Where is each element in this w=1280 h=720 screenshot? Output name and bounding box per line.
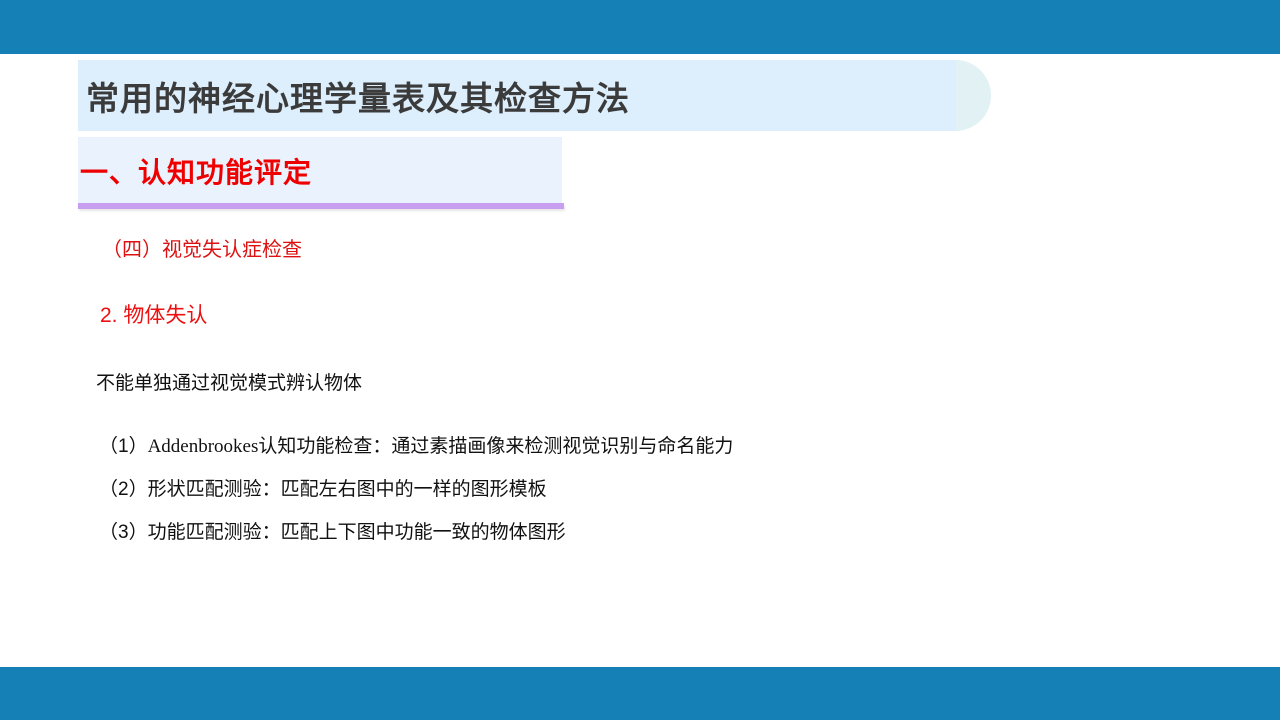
list-item-marker: （2） [99, 479, 148, 500]
list-item-latin: Addenbrookes [148, 436, 259, 457]
list-item: （1）Addenbrookes认知功能检查：通过素描画像来检测视觉识别与命名能力 [99, 437, 1196, 456]
item-heading: 2. 物体失认 [100, 305, 1196, 326]
list-item: （2）形状匹配测验：匹配左右图中的一样的图形模板 [99, 480, 1196, 499]
sub-heading: （四）视觉失认症检查 [102, 240, 1196, 260]
list-item-text: 形状匹配测验：匹配左右图中的一样的图形模板 [148, 479, 547, 500]
top-decorative-band [0, 0, 1280, 54]
page-title: 常用的神经心理学量表及其检查方法 [86, 60, 630, 131]
definition-text: 不能单独通过视觉模式辨认物体 [96, 374, 1196, 393]
list-item-marker: （3） [99, 522, 148, 543]
list-item-text: 功能匹配测验：匹配上下图中功能一致的物体图形 [148, 522, 566, 543]
body-content: （四）视觉失认症检查 2. 物体失认 不能单独通过视觉模式辨认物体 （1）Add… [96, 240, 1196, 566]
bottom-decorative-band [0, 667, 1280, 720]
list-item-marker: （1） [99, 436, 148, 457]
section-heading: 一、认知功能评定 [80, 137, 312, 204]
slide-canvas: 常用的神经心理学量表及其检查方法 一、认知功能评定 （四）视觉失认症检查 2. … [0, 0, 1280, 720]
list-item: （3）功能匹配测验：匹配上下图中功能一致的物体图形 [99, 523, 1196, 542]
numbered-list: （1）Addenbrookes认知功能检查：通过素描画像来检测视觉识别与命名能力… [96, 437, 1196, 542]
list-item-text: 认知功能检查：通过素描画像来检测视觉识别与命名能力 [258, 436, 733, 457]
